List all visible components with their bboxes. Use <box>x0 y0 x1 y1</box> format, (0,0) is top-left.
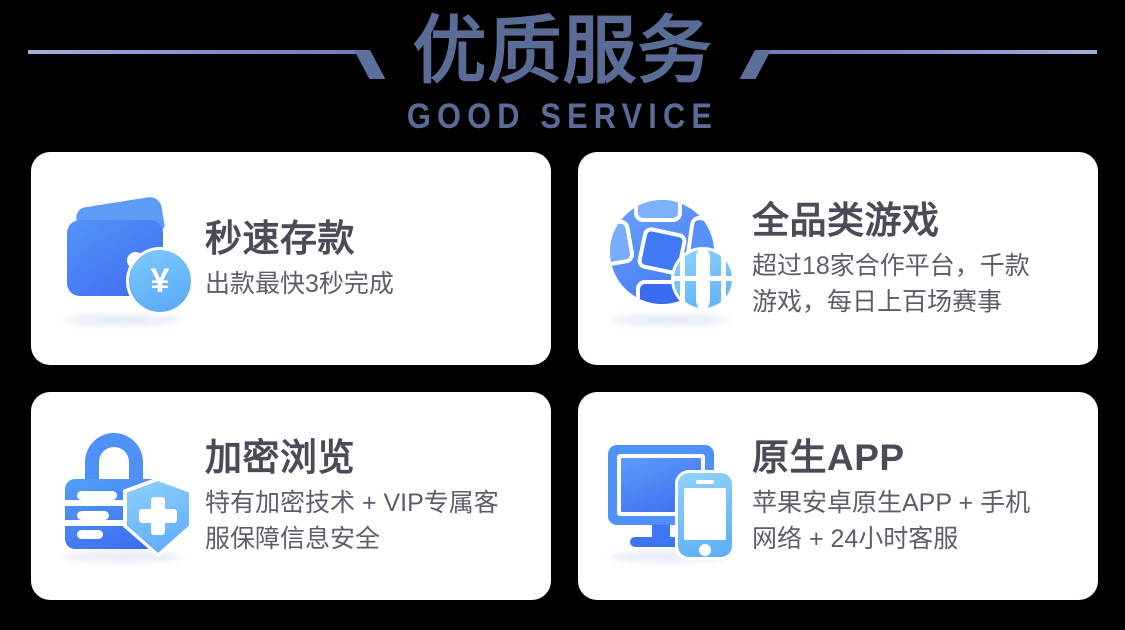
soccer-panel <box>634 200 682 222</box>
yen-coin-badge: ¥ <box>129 250 191 312</box>
lock-slot <box>77 511 109 520</box>
basketball-seam <box>696 250 726 308</box>
page-subtitle: GOOD SERVICE <box>68 96 1058 138</box>
card-title: 秒速存款 <box>205 216 533 262</box>
lock-slot <box>77 491 117 500</box>
card-subtitle-line: 苹果安卓原生APP + 手机 <box>752 485 1080 521</box>
icon-shadow <box>63 314 181 326</box>
card-title: 全品类游戏 <box>752 198 1080 244</box>
card-subtitle: 超过18家合作平台，千款 游戏，每日上百场赛事 <box>752 248 1080 320</box>
feature-card-native-app[interactable]: 原生APP 苹果安卓原生APP + 手机 网络 + 24小时客服 <box>578 392 1098 600</box>
card-subtitle-line: 网络 + 24小时客服 <box>752 521 1080 557</box>
card-text-block: 全品类游戏 超过18家合作平台，千款 游戏，每日上百场赛事 <box>744 198 1080 320</box>
wallet-yen-icon: ¥ <box>55 188 197 330</box>
feature-card-games[interactable]: 全品类游戏 超过18家合作平台，千款 游戏，每日上百场赛事 <box>578 152 1098 365</box>
phone-icon <box>678 473 732 557</box>
card-subtitle: 特有加密技术 + VIP专属客 服保障信息安全 <box>205 485 533 557</box>
monitor-phone-icon <box>602 425 744 567</box>
page-header: 优质服务 GOOD SERVICE <box>0 0 1125 145</box>
feature-card-encryption[interactable]: 加密浏览 特有加密技术 + VIP专属客 服保障信息安全 <box>31 392 551 600</box>
card-text-block: 原生APP 苹果安卓原生APP + 手机 网络 + 24小时客服 <box>744 435 1080 557</box>
basketball-icon <box>674 250 732 308</box>
phone-home-button <box>699 544 711 556</box>
icon-shadow <box>610 314 728 326</box>
icon-shadow <box>63 551 181 563</box>
lock-shield-icon <box>55 425 197 567</box>
card-subtitle-line: 服保障信息安全 <box>205 521 533 557</box>
card-subtitle-line: 游戏，每日上百场赛事 <box>752 284 1080 320</box>
plus-icon <box>139 509 177 523</box>
soccer-basketball-icon <box>602 188 744 330</box>
card-title: 原生APP <box>752 435 1080 481</box>
phone-speaker <box>696 480 714 484</box>
feature-card-deposit[interactable]: ¥ 秒速存款 出款最快3秒完成 <box>31 152 551 365</box>
page-title: 优质服务 <box>0 4 1125 98</box>
lock-slot <box>77 530 103 539</box>
phone-screen <box>684 488 726 540</box>
card-subtitle-line: 特有加密技术 + VIP专属客 <box>205 485 533 521</box>
card-subtitle: 出款最快3秒完成 <box>205 266 533 302</box>
card-subtitle-line: 超过18家合作平台，千款 <box>752 248 1080 284</box>
card-text-block: 秒速存款 出款最快3秒完成 <box>197 216 533 302</box>
card-text-block: 加密浏览 特有加密技术 + VIP专属客 服保障信息安全 <box>197 435 533 557</box>
soccer-panel <box>610 218 635 269</box>
feature-card-grid: ¥ 秒速存款 出款最快3秒完成 <box>31 152 1094 600</box>
card-subtitle: 苹果安卓原生APP + 手机 网络 + 24小时客服 <box>752 485 1080 557</box>
card-title: 加密浏览 <box>205 435 533 481</box>
card-subtitle-line: 出款最快3秒完成 <box>205 266 533 302</box>
